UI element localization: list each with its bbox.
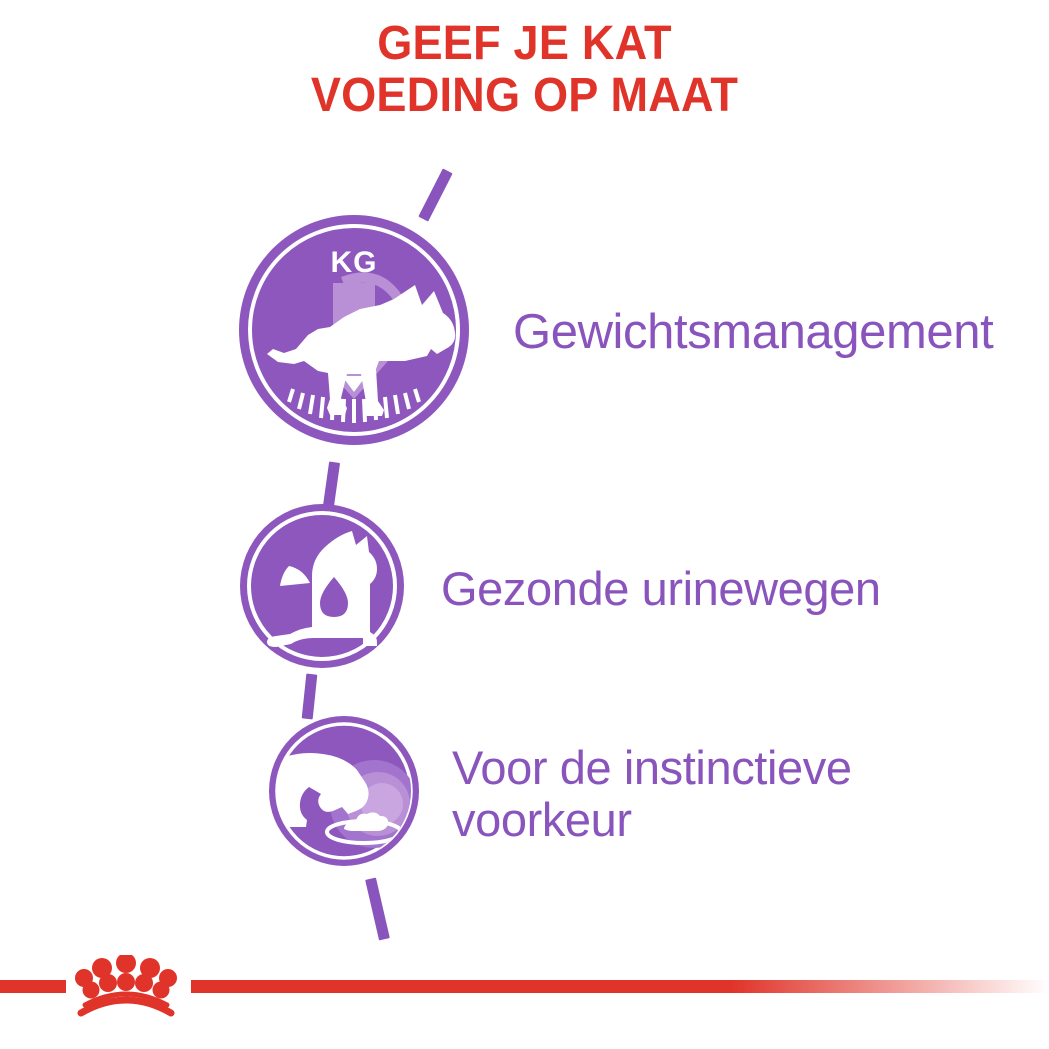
- footer-rule-right: [191, 980, 1049, 993]
- svg-text:KG: KG: [331, 246, 378, 279]
- connector-dash-middle-upper: [323, 461, 340, 507]
- feature-label-urinary-health: Gezonde urinewegen: [441, 563, 881, 615]
- cat-water-droplet-icon: [239, 503, 405, 674]
- feature-item-urinary-health: Gezonde urinewegen: [239, 503, 881, 674]
- promo-infographic: GEEF JE KAT VOEDING OP MAAT KG: [0, 0, 1049, 1049]
- feature-item-weight-management: KG: [237, 213, 993, 452]
- connector-dash-bottom: [365, 878, 390, 941]
- connector-dash-middle-lower: [302, 674, 318, 720]
- feature-label-instinctive-preference: Voor de instinctieve voorkeur: [452, 742, 852, 845]
- royal-canin-crown-icon: [74, 955, 178, 1017]
- feature-label-weight-management: Gewichtsmanagement: [513, 306, 993, 360]
- feature-item-instinctive-preference: Voor de instinctieve voorkeur: [268, 715, 852, 872]
- cat-eating-bowl-icon: [268, 715, 420, 872]
- footer-rule-left: [0, 980, 66, 993]
- page-title-line-1: GEEF JE KAT: [31, 18, 1017, 70]
- page-title: GEEF JE KAT VOEDING OP MAAT: [31, 18, 1017, 122]
- page-title-line-2: VOEDING OP MAAT: [31, 70, 1017, 122]
- cat-weight-scale-icon: KG: [237, 213, 471, 452]
